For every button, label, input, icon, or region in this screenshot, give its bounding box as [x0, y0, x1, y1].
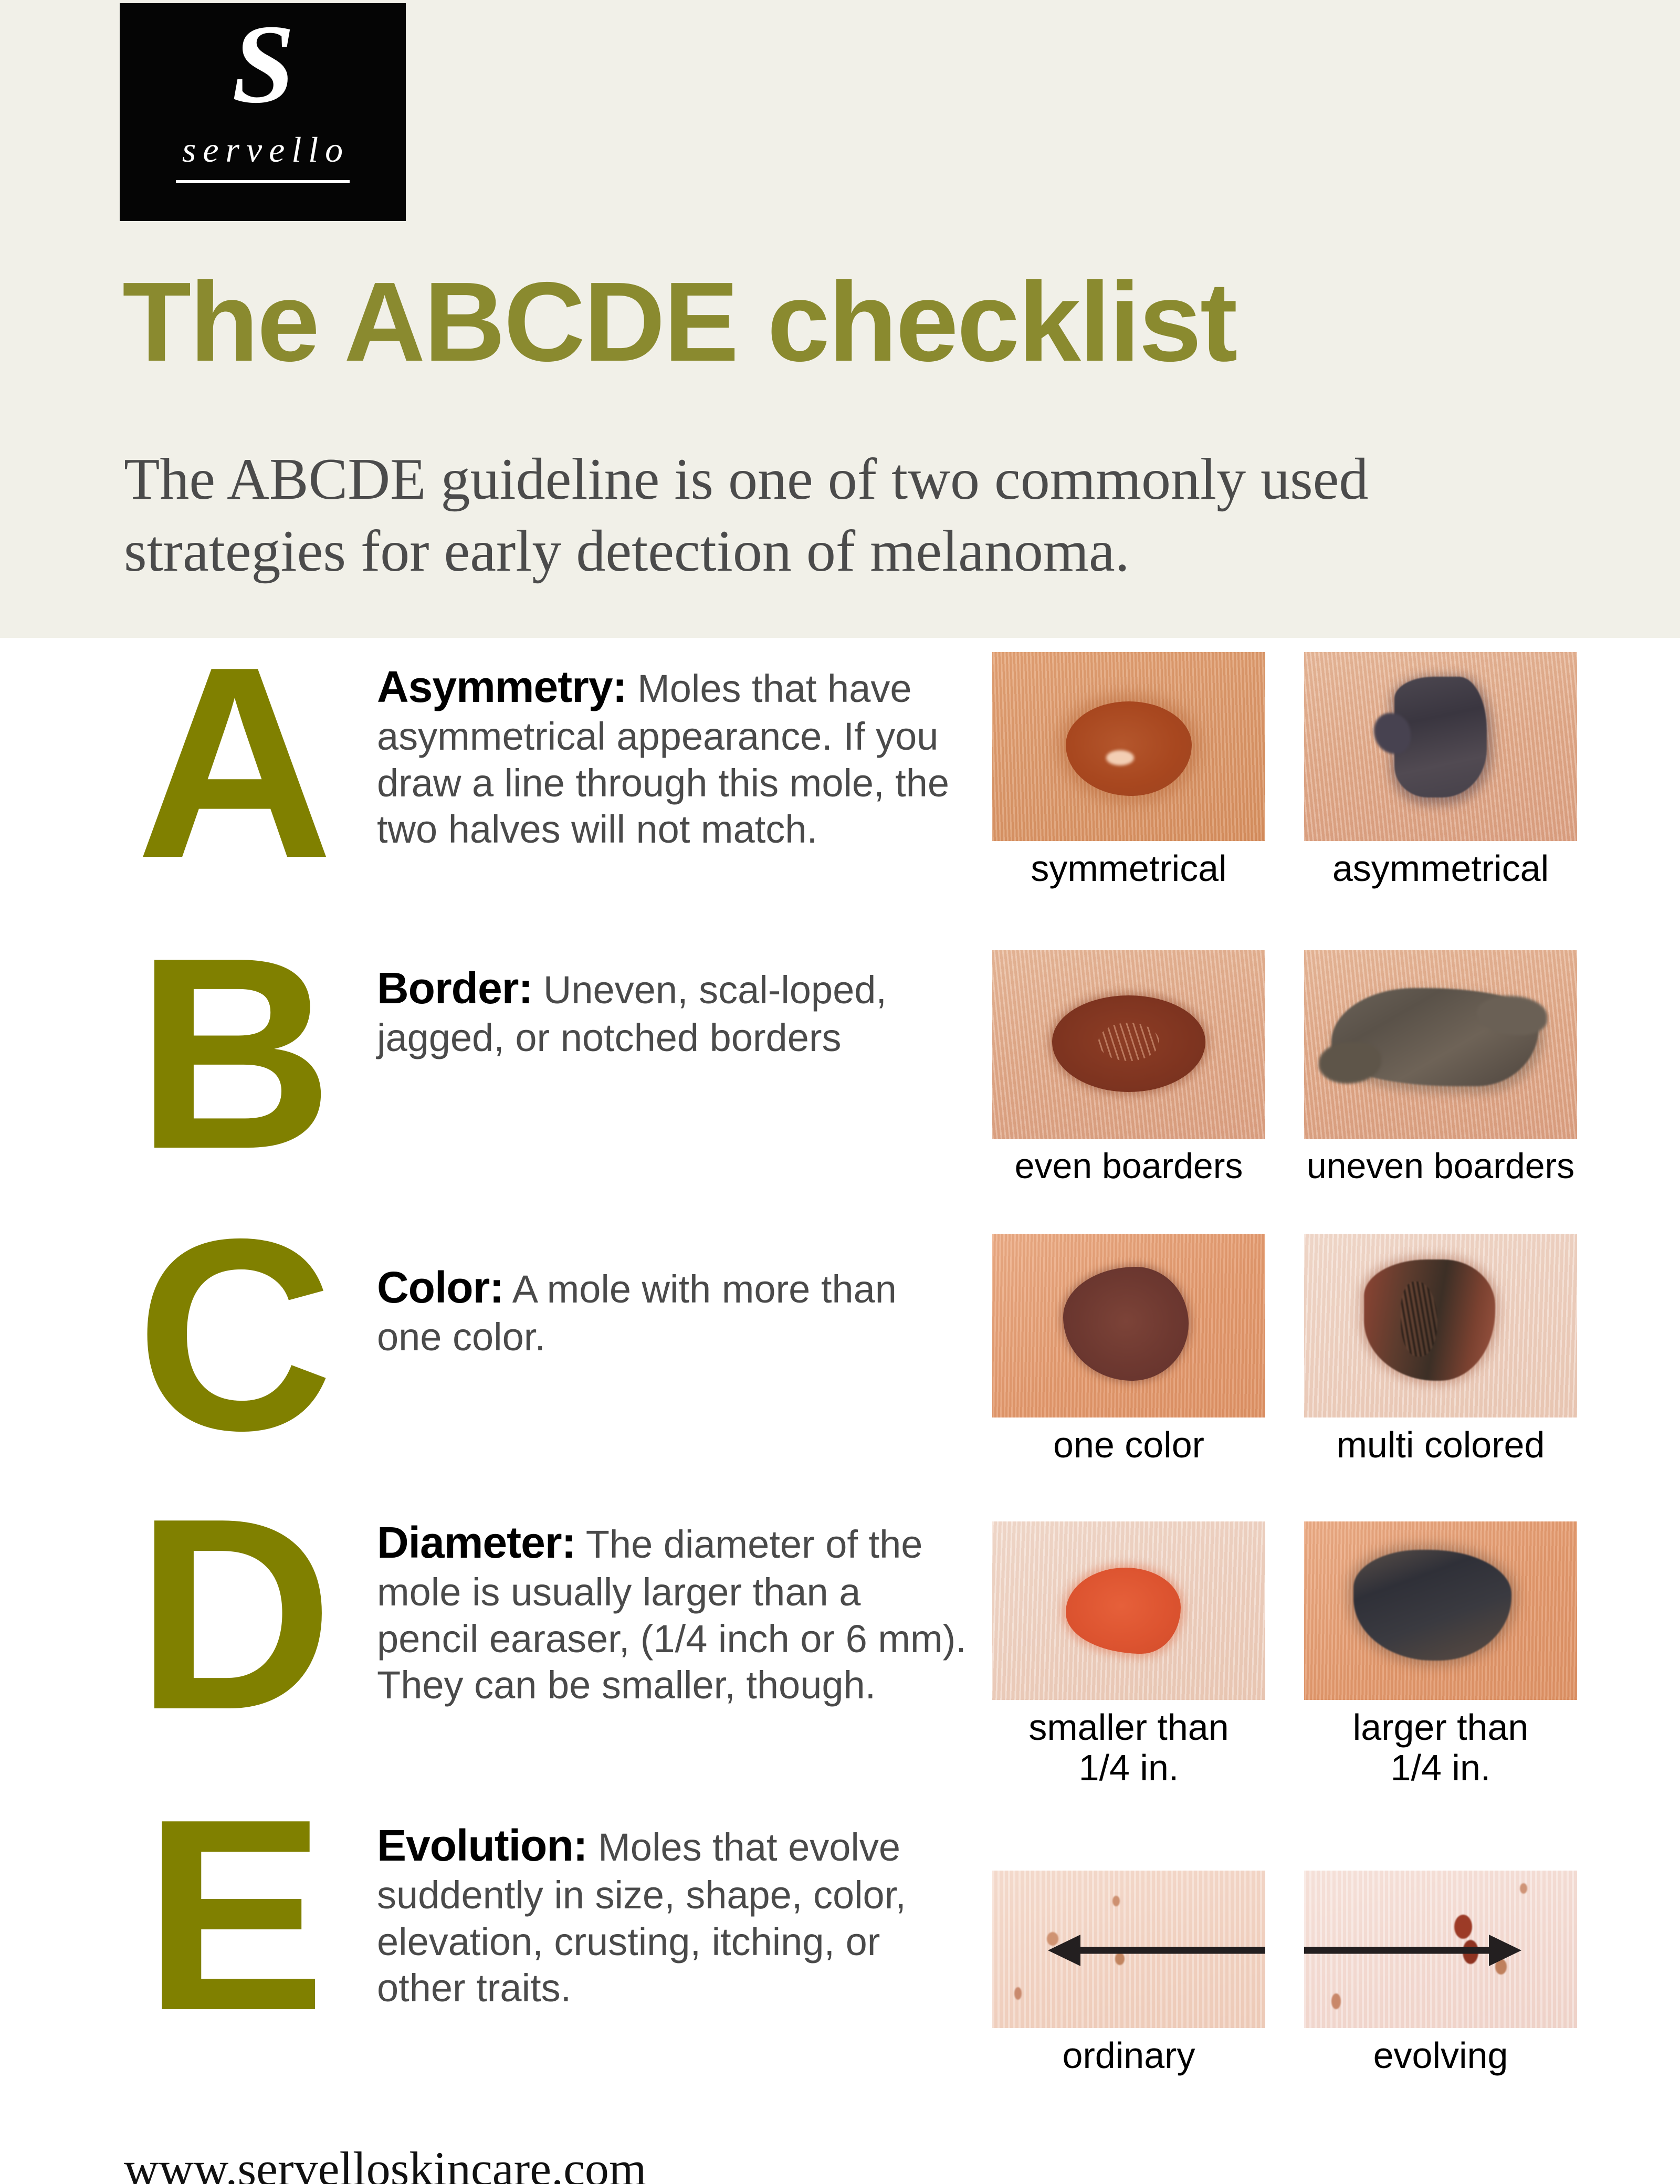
caption-asymmetrical: asymmetrical [1304, 848, 1577, 889]
photo-pair-color: one color multi colored [992, 1234, 1577, 1465]
description-asymmetry: Asymmetry: Moles that have asymmetrical … [377, 660, 970, 853]
photo-larger-than-quarter-inch [1304, 1521, 1577, 1700]
big-letter-d: D [121, 1508, 346, 1721]
photo-cell-one-color: one color [992, 1234, 1265, 1465]
photo-pair-asymmetry: symmetrical asymmetrical [992, 652, 1577, 889]
photo-cell-multi-colored: multi colored [1304, 1234, 1577, 1465]
photo-symmetrical [992, 652, 1265, 841]
caption-ordinary: ordinary [992, 2035, 1265, 2076]
photo-cell-evolving: evolving [1304, 1871, 1577, 2076]
photo-pair-border: even boarders uneven boarders [992, 950, 1577, 1186]
caption-larger-than: larger than 1/4 in. [1304, 1707, 1577, 1788]
abcde-checklist-poster: S servello The ABCDE checklist The ABCDE… [0, 0, 1680, 2184]
term-asymmetry: Asymmetry: [377, 662, 627, 711]
lesion-asymmetrical [1394, 677, 1487, 797]
photo-evolving [1304, 1871, 1577, 2028]
lesion-multi-colored [1364, 1259, 1495, 1381]
description-diameter: Diameter: The diameter of the mole is us… [377, 1516, 970, 1709]
photo-cell-symmetrical: symmetrical [992, 652, 1265, 889]
lesion-small-diameter [1066, 1568, 1180, 1653]
photo-asymmetrical [1304, 652, 1577, 841]
lesion-symmetrical [1066, 701, 1191, 796]
lesion-one-color [1063, 1267, 1189, 1381]
term-evolution: Evolution: [377, 1821, 587, 1870]
photo-one-color [992, 1234, 1265, 1417]
page-title: The ABCDE checklist [122, 265, 1236, 378]
servello-logo: S servello [120, 3, 406, 221]
photo-cell-uneven-borders: uneven boarders [1304, 950, 1577, 1186]
caption-multi-colored: multi colored [1304, 1425, 1577, 1465]
photo-uneven-borders [1304, 950, 1577, 1139]
caption-one-color: one color [992, 1425, 1265, 1465]
caption-even-borders: even boarders [992, 1147, 1265, 1186]
description-color: Color: A mole with more than one color. [377, 1261, 970, 1361]
caption-uneven-borders: uneven boarders [1304, 1147, 1577, 1186]
photo-pair-diameter: smaller than 1/4 in. larger than 1/4 in. [992, 1521, 1577, 1788]
photo-cell-larger: larger than 1/4 in. [1304, 1521, 1577, 1788]
photo-smaller-than-quarter-inch [992, 1521, 1265, 1700]
photo-cell-even-borders: even boarders [992, 950, 1265, 1186]
page-subtitle: The ABCDE guideline is one of two common… [124, 444, 1604, 587]
header-band: S servello The ABCDE checklist The ABCDE… [0, 0, 1680, 638]
arrow-right-icon [1304, 1871, 1577, 2028]
photo-cell-ordinary: ordinary [992, 1871, 1265, 2076]
lesion-even-border [1052, 995, 1205, 1092]
arrow-left-icon [992, 1871, 1265, 2028]
caption-evolving: evolving [1304, 2035, 1577, 2076]
caption-symmetrical: symmetrical [992, 848, 1265, 889]
photo-cell-asymmetrical: asymmetrical [1304, 652, 1577, 889]
photo-ordinary [992, 1871, 1265, 2028]
big-letter-c: C [121, 1228, 346, 1442]
logo-monogram-s: S [120, 7, 406, 120]
row-evolution: E Evolution: Moles that evolve suddently… [0, 1814, 1680, 2139]
big-letter-b: B [121, 947, 346, 1160]
description-evolution: Evolution: Moles that evolve suddently i… [377, 1819, 970, 2012]
caption-smaller-than: smaller than 1/4 in. [992, 1707, 1265, 1788]
term-diameter: Diameter: [377, 1518, 575, 1567]
big-letter-a: A [121, 656, 346, 869]
big-letter-e: E [121, 1809, 346, 2022]
term-color: Color: [377, 1263, 503, 1312]
photo-pair-evolution: ordinary evolving [992, 1871, 1577, 2076]
lesion-large-diameter [1353, 1550, 1512, 1661]
lesion-uneven-border [1331, 988, 1539, 1086]
website-url[interactable]: www.servelloskincare.com [124, 2141, 646, 2184]
logo-wordmark-wrap: servello [120, 129, 406, 183]
term-border: Border: [377, 963, 532, 1013]
photo-even-borders [992, 950, 1265, 1139]
photo-multi-colored [1304, 1234, 1577, 1417]
photo-cell-smaller: smaller than 1/4 in. [992, 1521, 1265, 1788]
description-border: Border: Uneven, scal-loped, jagged, or n… [377, 962, 970, 1062]
logo-wordmark: servello [176, 129, 350, 183]
